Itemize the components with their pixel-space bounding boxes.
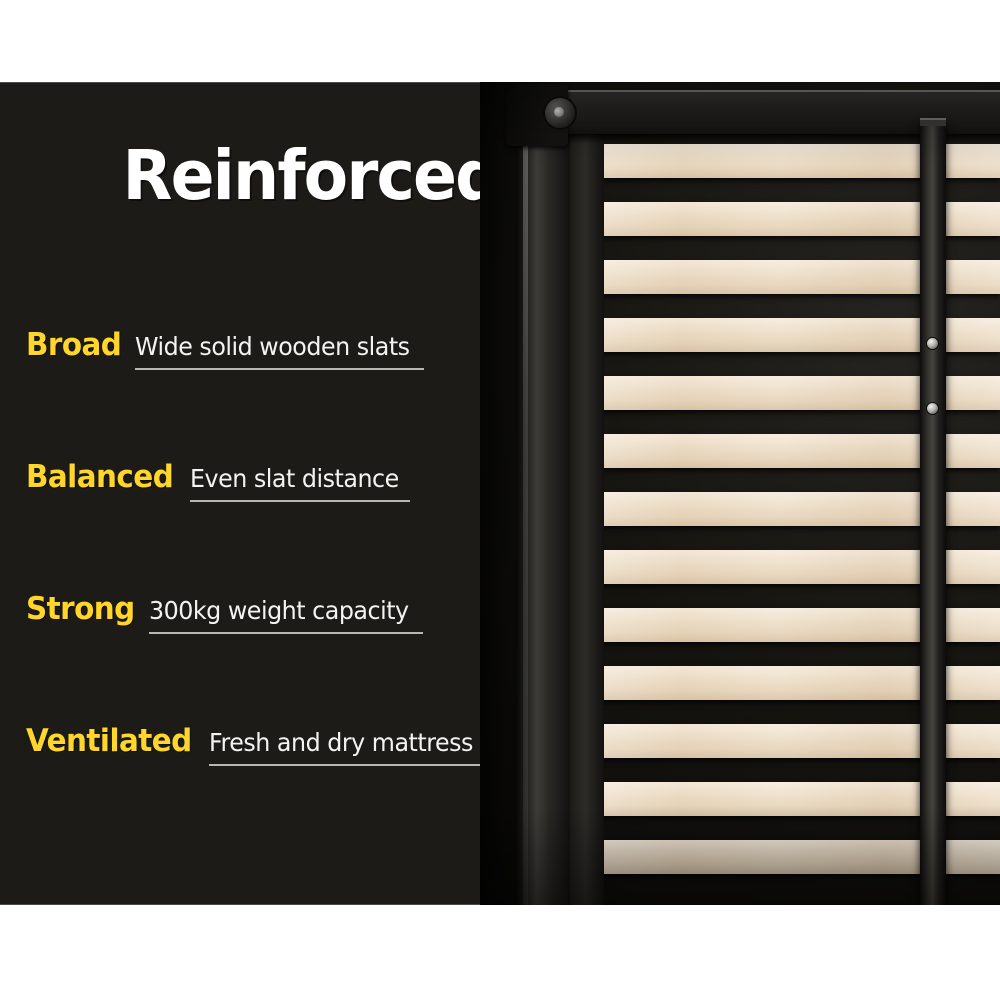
feature-item-balanced: Balanced Even slat distance [26, 459, 546, 591]
feature-item-ventilated: Ventilated Fresh and dry mattress at all… [26, 723, 546, 855]
product-photo-bed-slats [480, 82, 1000, 905]
dark-content-panel: Reinforced thick slats Broad Wide solid … [0, 82, 1000, 905]
feature-term-balanced: Balanced [26, 459, 173, 495]
rail-screw-lower [926, 402, 939, 415]
feature-list: Broad Wide solid wooden slats Balanced E… [26, 327, 546, 855]
product-feature-poster: Reinforced thick slats Broad Wide solid … [0, 0, 1000, 1000]
rail-screw-upper [926, 337, 939, 350]
feature-desc-underline-strong: 300kg weight capacity [149, 596, 422, 634]
feature-item-broad: Broad Wide solid wooden slats [26, 327, 546, 459]
bed-inner-post [570, 122, 604, 905]
bed-corner-bracket [506, 84, 568, 146]
bed-side-rail-highlight [523, 94, 528, 905]
feature-desc-underline-balanced: Even slat distance [190, 464, 410, 502]
feature-item-strong: Strong 300kg weight capacity [26, 591, 546, 723]
feature-term-ventilated: Ventilated [26, 723, 192, 759]
feature-desc-balanced: Even slat distance [190, 464, 399, 493]
feature-term-broad: Broad [26, 327, 121, 363]
bed-center-support-rail [920, 122, 946, 905]
feature-desc-underline-broad: Wide solid wooden slats [135, 332, 424, 370]
bed-center-rail-cap [920, 118, 946, 126]
feature-term-strong: Strong [26, 591, 135, 627]
feature-desc-broad: Wide solid wooden slats [135, 332, 410, 361]
feature-desc-strong: 300kg weight capacity [149, 596, 409, 625]
bolt-icon [543, 96, 577, 130]
bed-top-rail-highlight [526, 90, 1000, 92]
